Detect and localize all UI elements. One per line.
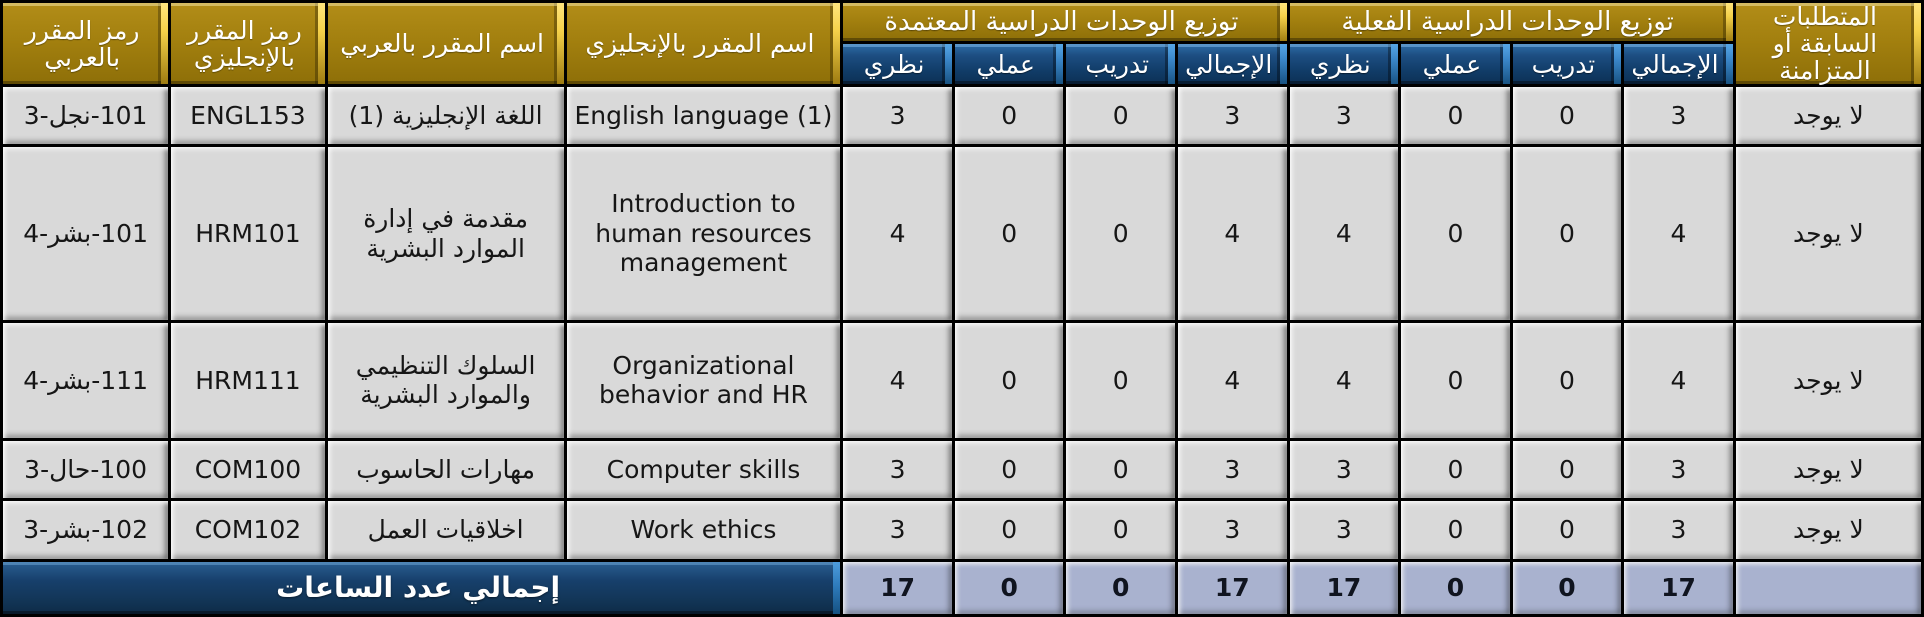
totals-label: إجمالي عدد الساعات [3,562,840,614]
course-plan-table: المتطلبات السابقة أو المتزامنة توزيع الو… [0,0,1924,617]
cell-credit-theory: 3 [843,501,952,559]
cell-course-code-ar: 101-نجل-3 [3,87,168,144]
cell-actual-training: 0 [1513,87,1622,144]
header-course-name-en: اسم المقرر بالإنجليزي [567,3,841,84]
cell-course-code-en: COM102 [171,501,324,559]
cell-credit-practical: 0 [955,87,1064,144]
cell-actual-practical: 0 [1401,87,1510,144]
cell-course-name-en: Introduction to human resources manageme… [567,147,841,319]
cell-actual-total: 4 [1624,323,1733,438]
cell-prereq: لا يوجد [1736,501,1921,559]
cell-credit-total: 3 [1178,87,1287,144]
totals-actual-training: 0 [1513,562,1622,614]
cell-course-code-ar: 102-بشر-3 [3,501,168,559]
header-actual-practical: عملي [1401,44,1510,84]
cell-course-name-en: Organizational behavior and HR [567,323,841,438]
cell-course-code-ar: 111-بشر-4 [3,323,168,438]
table-header: المتطلبات السابقة أو المتزامنة توزيع الو… [3,3,1921,84]
cell-credit-training: 0 [1066,87,1175,144]
cell-credit-total: 4 [1178,147,1287,319]
cell-credit-practical: 0 [955,441,1064,498]
cell-course-name-en: English language (1) [567,87,841,144]
cell-course-name-ar: اللغة الإنجليزية (1) [328,87,564,144]
totals-credit-training: 0 [1066,562,1175,614]
totals-credit-practical: 0 [955,562,1064,614]
cell-actual-total: 3 [1624,441,1733,498]
table-row: لا يوجد 3 0 0 3 3 0 0 3 Computer skills … [3,441,1921,498]
totals-actual-practical: 0 [1401,562,1510,614]
cell-actual-training: 0 [1513,147,1622,319]
cell-prereq: لا يوجد [1736,323,1921,438]
cell-credit-practical: 0 [955,147,1064,319]
cell-credit-training: 0 [1066,323,1175,438]
cell-course-name-en: Work ethics [567,501,841,559]
cell-credit-total: 3 [1178,441,1287,498]
header-group-actual-units: توزيع الوحدات الدراسية الفعلية [1290,3,1733,41]
cell-course-name-ar: مهارات الحاسوب [328,441,564,498]
cell-actual-training: 0 [1513,323,1622,438]
cell-actual-practical: 0 [1401,147,1510,319]
cell-actual-training: 0 [1513,441,1622,498]
cell-course-code-ar: 100-حال-3 [3,441,168,498]
cell-credit-theory: 4 [843,147,952,319]
cell-course-code-en: HRM111 [171,323,324,438]
cell-credit-practical: 0 [955,323,1064,438]
cell-course-code-en: HRM101 [171,147,324,319]
table-row: لا يوجد 4 0 0 4 4 0 0 4 Organizational b… [3,323,1921,438]
cell-course-code-en: ENGL153 [171,87,324,144]
cell-actual-total: 3 [1624,87,1733,144]
totals-prereq-blank [1736,562,1921,614]
cell-actual-practical: 0 [1401,323,1510,438]
cell-credit-training: 0 [1066,147,1175,319]
cell-actual-theory: 4 [1290,147,1399,319]
cell-credit-training: 0 [1066,501,1175,559]
cell-credit-theory: 3 [843,441,952,498]
header-course-code-ar: رمز المقرر بالعربي [3,3,168,84]
header-credit-training: تدريب [1066,44,1175,84]
cell-course-name-en: Computer skills [567,441,841,498]
totals-actual-total: 17 [1624,562,1733,614]
header-actual-total: الإجمالي [1624,44,1733,84]
cell-course-name-ar: السلوك التنظيمي والموارد البشرية [328,323,564,438]
header-row-groups: المتطلبات السابقة أو المتزامنة توزيع الو… [3,3,1921,41]
cell-actual-training: 0 [1513,501,1622,559]
cell-credit-practical: 0 [955,501,1064,559]
course-plan-table-sheet: المتطلبات السابقة أو المتزامنة توزيع الو… [0,0,1924,596]
header-credit-practical: عملي [955,44,1064,84]
cell-credit-theory: 4 [843,323,952,438]
totals-credit-total: 17 [1178,562,1287,614]
table-footer: 17 0 0 17 17 0 0 17 إجمالي عدد الساعات [3,562,1921,614]
cell-credit-total: 3 [1178,501,1287,559]
header-prerequisites: المتطلبات السابقة أو المتزامنة [1736,3,1921,84]
cell-course-code-en: COM100 [171,441,324,498]
cell-actual-total: 4 [1624,147,1733,319]
cell-actual-practical: 0 [1401,441,1510,498]
cell-actual-theory: 4 [1290,323,1399,438]
table-body: لا يوجد 3 0 0 3 3 0 0 3 English language… [3,87,1921,559]
cell-actual-theory: 3 [1290,87,1399,144]
totals-credit-theory: 17 [843,562,952,614]
table-row: لا يوجد 4 0 0 4 4 0 0 4 Introduction to … [3,147,1921,319]
table-row: لا يوجد 3 0 0 3 3 0 0 3 Work ethics اخلا… [3,501,1921,559]
header-course-code-en: رمز المقرر بالإنجليزي [171,3,324,84]
cell-actual-theory: 3 [1290,441,1399,498]
header-credit-total: الإجمالي [1178,44,1287,84]
cell-prereq: لا يوجد [1736,147,1921,319]
cell-course-name-ar: مقدمة في إدارة الموارد البشرية [328,147,564,319]
cell-credit-theory: 3 [843,87,952,144]
cell-credit-training: 0 [1066,441,1175,498]
table-row: لا يوجد 3 0 0 3 3 0 0 3 English language… [3,87,1921,144]
cell-credit-total: 4 [1178,323,1287,438]
header-course-name-ar: اسم المقرر بالعربي [328,3,564,84]
cell-actual-practical: 0 [1401,501,1510,559]
cell-prereq: لا يوجد [1736,441,1921,498]
header-actual-training: تدريب [1513,44,1622,84]
cell-course-name-ar: اخلاقيات العمل [328,501,564,559]
totals-row: 17 0 0 17 17 0 0 17 إجمالي عدد الساعات [3,562,1921,614]
cell-prereq: لا يوجد [1736,87,1921,144]
cell-actual-total: 3 [1624,501,1733,559]
header-credit-theory: نظري [843,44,952,84]
cell-course-code-ar: 101-بشر-4 [3,147,168,319]
header-group-credit-units: توزيع الوحدات الدراسية المعتمدة [843,3,1286,41]
cell-actual-theory: 3 [1290,501,1399,559]
totals-actual-theory: 17 [1290,562,1399,614]
header-actual-theory: نظري [1290,44,1399,84]
